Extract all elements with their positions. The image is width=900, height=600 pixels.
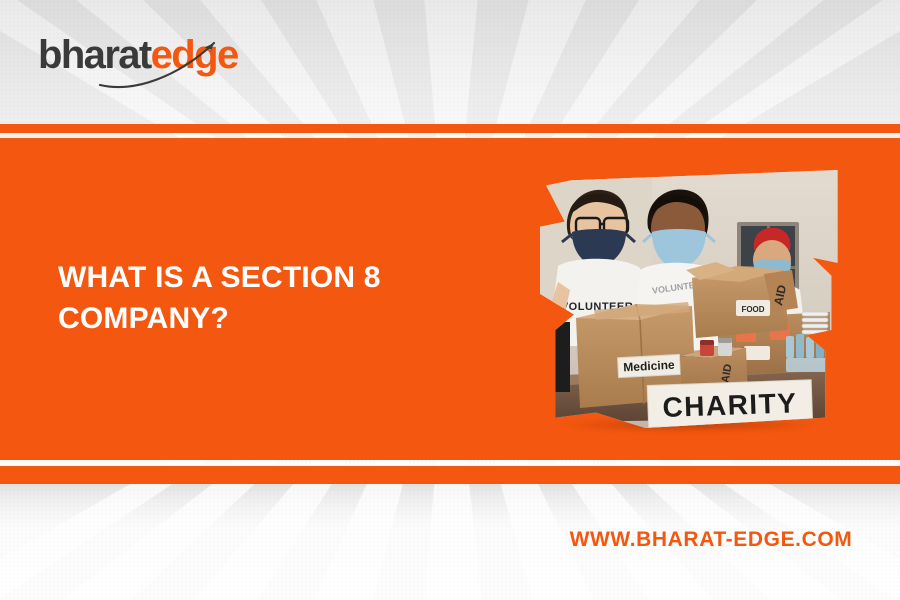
svg-text:FOOD: FOOD xyxy=(741,305,764,314)
svg-text:CHARITY: CHARITY xyxy=(662,387,798,423)
logo-wordmark: bharatedge xyxy=(38,35,238,75)
svg-text:Medicine: Medicine xyxy=(623,358,675,375)
charity-volunteers-photo-icon: VOLUNTEER VOLUNTEER xyxy=(540,170,850,428)
logo-text-edge: edge xyxy=(151,33,238,77)
logo-text-bharat: bharat xyxy=(38,33,151,77)
photo-clip-shape: VOLUNTEER VOLUNTEER xyxy=(540,170,850,428)
hero-photo: VOLUNTEER VOLUNTEER xyxy=(540,170,850,432)
brand-logo[interactable]: bharatedge xyxy=(38,33,248,91)
banner-canvas: bharatedge WHAT IS A SECTION 8 COMPANY? xyxy=(0,0,900,600)
accent-stripe-bottom xyxy=(0,466,900,484)
website-url[interactable]: WWW.BHARAT-EDGE.COM xyxy=(556,528,866,552)
accent-stripe-top xyxy=(0,124,900,133)
page-title: WHAT IS A SECTION 8 COMPANY? xyxy=(58,258,488,339)
